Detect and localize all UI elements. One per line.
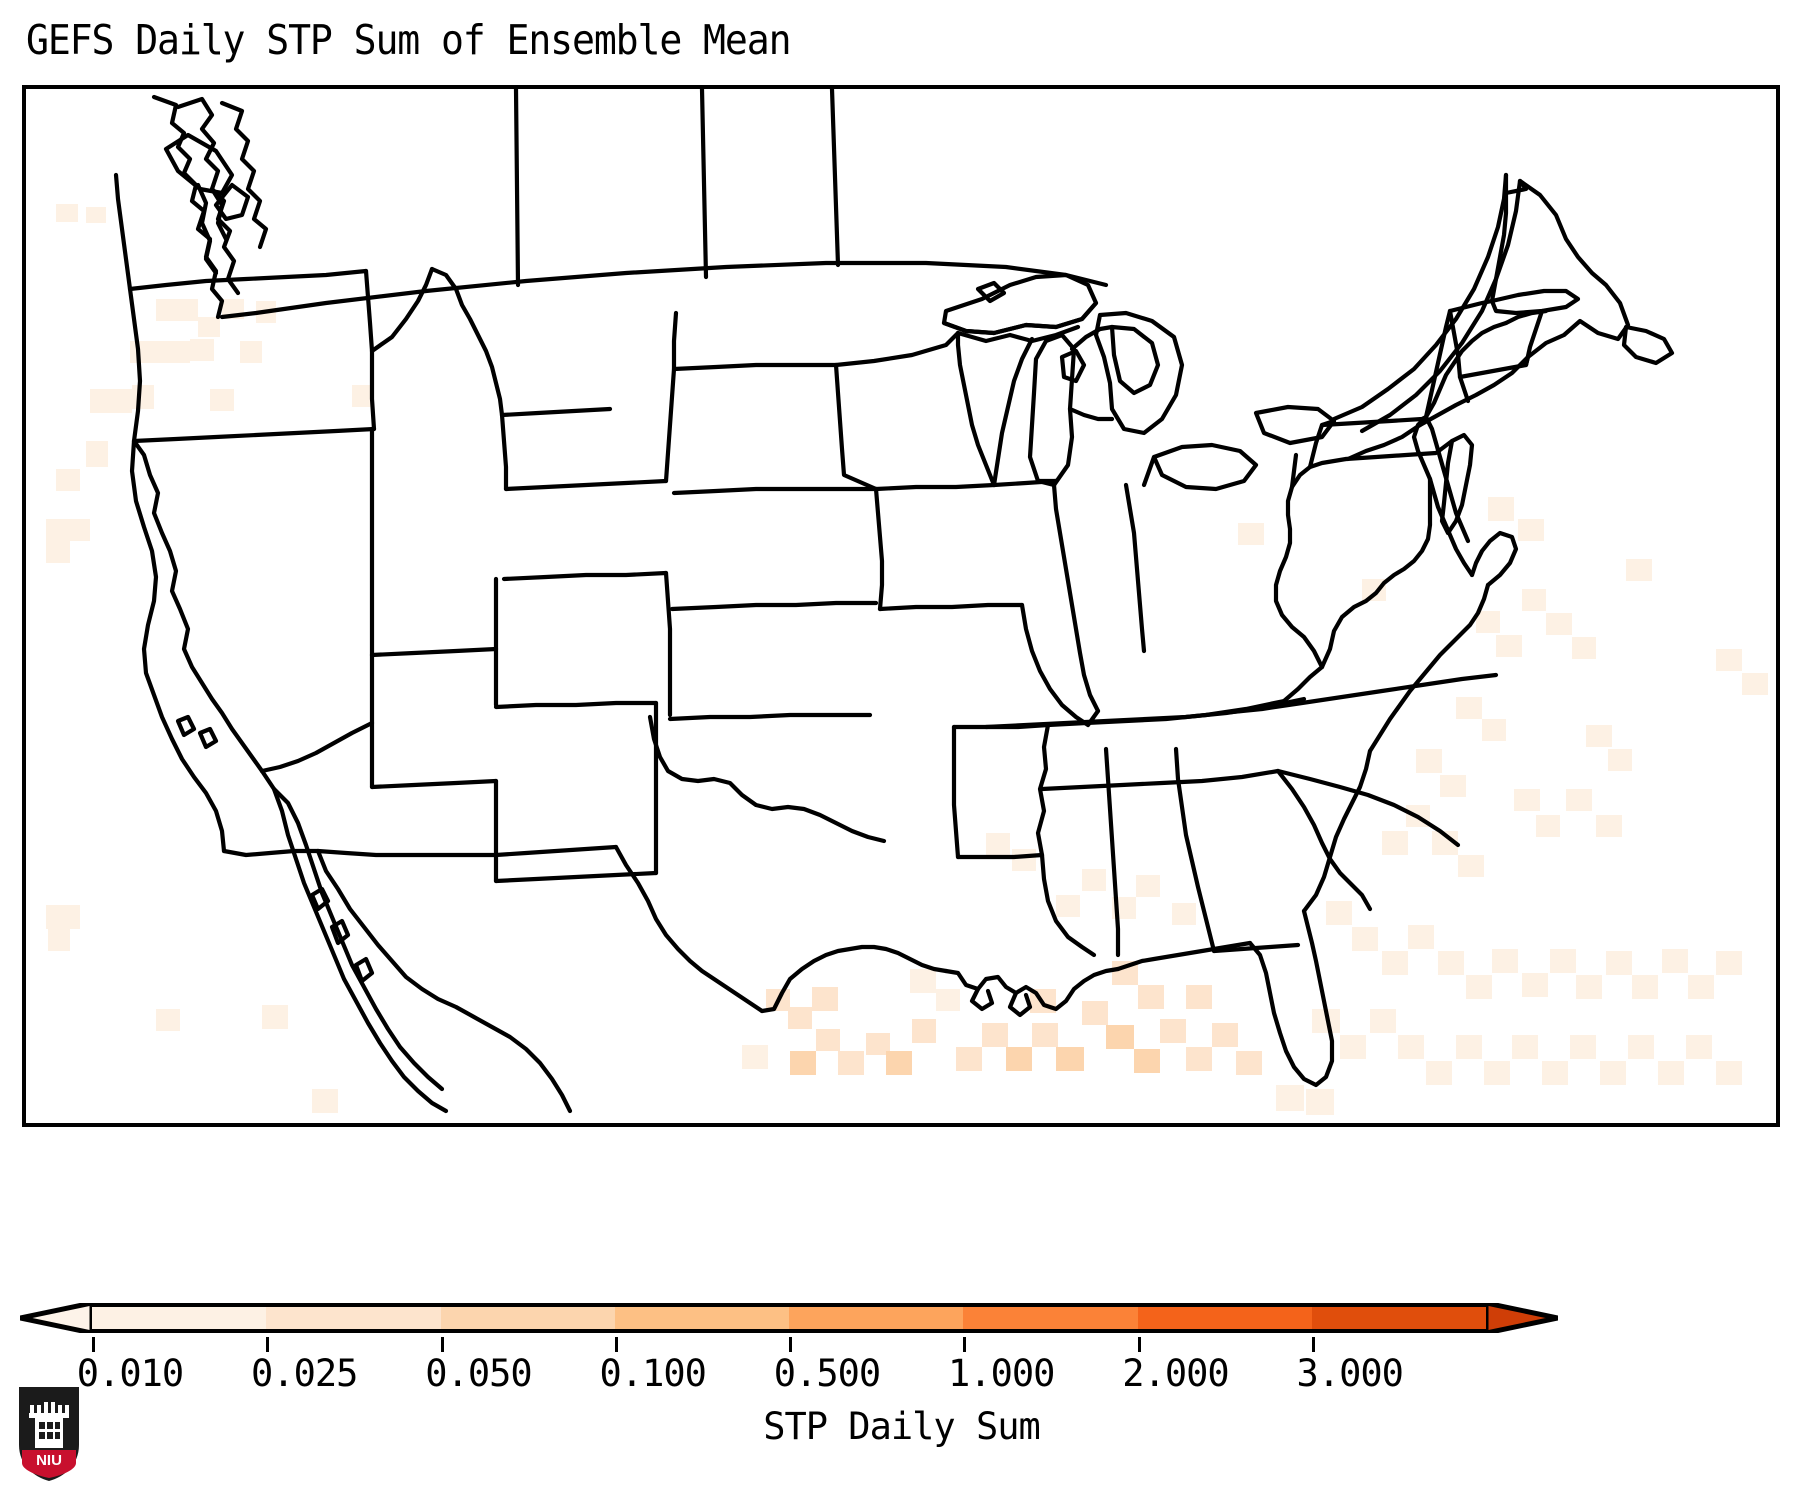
colorbar-band-4 bbox=[789, 1307, 963, 1329]
colorbar-tick-7 bbox=[1312, 1337, 1315, 1352]
colorbar-gradient[interactable] bbox=[92, 1303, 1486, 1333]
colorbar-tick-0 bbox=[92, 1337, 95, 1352]
colorbar-axis-title: STP Daily Sum bbox=[0, 1405, 1803, 1448]
colorbar-tick-label-7: 3.000 bbox=[1297, 1352, 1403, 1395]
colorbar-band-7 bbox=[1312, 1307, 1486, 1329]
colorbar-band-2 bbox=[441, 1307, 615, 1329]
colorbar-band-6 bbox=[1138, 1307, 1312, 1329]
colorbar-tick-label-3: 0.100 bbox=[600, 1352, 706, 1395]
colorbar[interactable] bbox=[0, 1295, 1803, 1355]
colorbar-ticks bbox=[92, 1337, 1486, 1353]
colorbar-over-outline bbox=[1486, 1303, 1558, 1333]
colorbar-tick-label-0: 0.010 bbox=[77, 1352, 183, 1395]
colorbar-band-0 bbox=[92, 1307, 266, 1329]
colorbar-band-5 bbox=[963, 1307, 1137, 1329]
colorbar-tick-label-4: 0.500 bbox=[774, 1352, 880, 1395]
colorbar-tick-label-5: 1.000 bbox=[948, 1352, 1054, 1395]
colorbar-tick-labels: 0.0100.0250.0500.1000.5001.0002.0003.000 bbox=[0, 1352, 1803, 1402]
colorbar-tick-5 bbox=[963, 1337, 966, 1352]
colorbar-tick-6 bbox=[1138, 1337, 1141, 1352]
colorbar-tick-label-6: 2.000 bbox=[1122, 1352, 1228, 1395]
niu-logo: NIU bbox=[16, 1383, 82, 1483]
colorbar-tick-2 bbox=[441, 1337, 444, 1352]
colorbar-tick-label-2: 0.050 bbox=[425, 1352, 531, 1395]
colorbar-tick-label-1: 0.025 bbox=[251, 1352, 357, 1395]
niu-banner-text: NIU bbox=[36, 1452, 62, 1469]
colorbar-under-outline bbox=[20, 1303, 92, 1333]
colorbar-tick-3 bbox=[615, 1337, 618, 1352]
map-plot-area: Valid: 2025-12-26 12:00 UTC to 2025-12-2… bbox=[22, 85, 1780, 1127]
colorbar-tick-4 bbox=[789, 1337, 792, 1352]
page-title: GEFS Daily STP Sum of Ensemble Mean bbox=[26, 16, 790, 64]
colorbar-band-3 bbox=[615, 1307, 789, 1329]
colorbar-tick-1 bbox=[266, 1337, 269, 1352]
map-geography bbox=[26, 89, 1776, 1123]
colorbar-band-1 bbox=[266, 1307, 440, 1329]
